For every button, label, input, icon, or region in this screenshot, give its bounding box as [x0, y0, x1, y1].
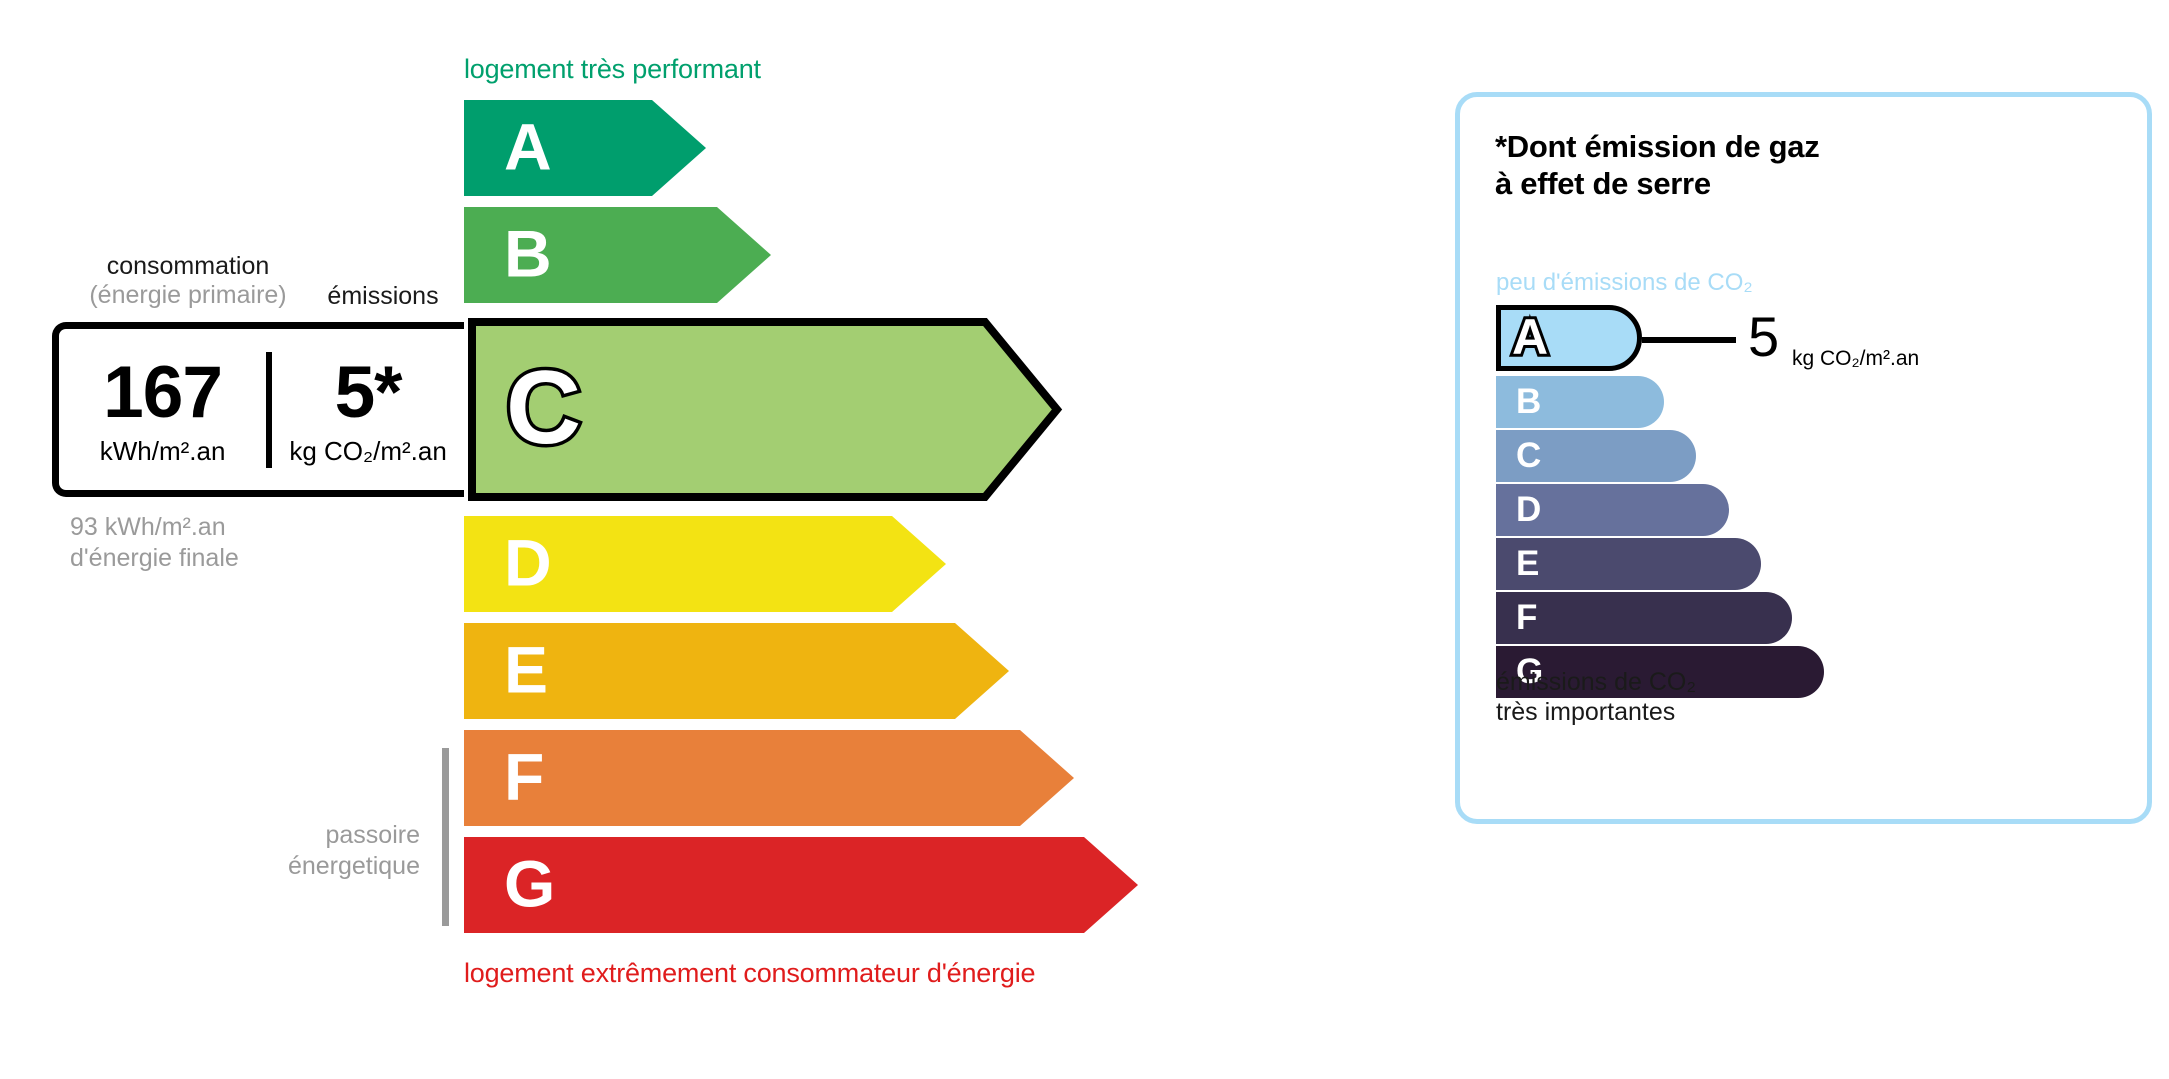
co2-title-line1: *Dont émission de gaz [1495, 129, 1819, 164]
co2-bar-letter-f: F [1516, 600, 1537, 635]
co2-subtitle: peu d'émissions de CO₂ [1496, 269, 1753, 297]
co2-value: 5 [1748, 309, 1779, 365]
passoire-label-line1: passoire [326, 821, 421, 849]
final-energy-line1: 93 kWh/m².an [70, 513, 226, 541]
energy-band-shape-g [464, 837, 1138, 933]
final-energy-footnote: 93 kWh/m².an d'énergie finale [70, 512, 239, 575]
final-energy-line2: d'énergie finale [70, 544, 239, 572]
emissions-unit: kg CO₂/m².an [272, 438, 464, 464]
emissions-header: émissions [308, 282, 458, 311]
co2-bar-letter-d: D [1516, 492, 1541, 527]
co2-panel: *Dont émission de gaz à effet de serre p… [1455, 92, 2152, 824]
energy-band-list: ABCDEFG [464, 100, 1138, 944]
energy-band-c: C [464, 314, 1138, 505]
co2-footer-line2: très importantes [1496, 698, 1675, 726]
co2-panel-title: *Dont émission de gaz à effet de serre [1495, 129, 1819, 202]
energy-band-g: G [464, 837, 1138, 933]
co2-bar-letter-c: C [1516, 438, 1541, 473]
co2-bar-letter-b: B [1516, 384, 1541, 419]
energy-band-b: B [464, 207, 1138, 303]
co2-value-unit: kg CO₂/m².an [1792, 347, 1919, 371]
co2-footer-line1: émissions de CO₂ [1496, 668, 1696, 696]
energy-band-shape-c [464, 314, 1065, 505]
passoire-label: passoire énergetique [190, 820, 420, 883]
consumption-cell: 167 kWh/m².an [59, 356, 266, 464]
energy-band-f: F [464, 730, 1138, 826]
co2-bar-f [1496, 592, 1792, 644]
energy-band-shape-f [464, 730, 1074, 826]
co2-leader-line [1642, 337, 1736, 343]
passoire-label-line2: énergetique [288, 852, 420, 880]
consumption-header-line1: consommation [68, 252, 308, 281]
co2-bar-letter-e: E [1516, 546, 1539, 581]
dpe-diagram: logement très performant ABCDEFG logemen… [0, 0, 2169, 1079]
scale-bottom-caption: logement extrêmement consommateur d'éner… [464, 958, 1035, 989]
energy-band-e: E [464, 623, 1138, 719]
consumption-header-line2: (énergie primaire) [68, 281, 308, 310]
energy-band-shape-a [464, 100, 706, 196]
co2-title-line2: à effet de serre [1495, 166, 1711, 201]
consumption-value: 167 [59, 356, 266, 429]
energy-band-shape-d [464, 516, 946, 612]
consumption-header: consommation (énergie primaire) [68, 252, 308, 310]
emissions-value: 5* [272, 356, 464, 429]
co2-footer: émissions de CO₂ très importantes [1496, 667, 1696, 727]
co2-bar-letter-a: A [1512, 312, 1548, 362]
scale-top-caption: logement très performant [464, 54, 761, 85]
energy-band-shape-b [464, 207, 771, 303]
energy-band-d: D [464, 516, 1138, 612]
passoire-marker-bar [442, 748, 449, 926]
consumption-unit: kWh/m².an [59, 438, 266, 464]
emissions-cell: 5* kg CO₂/m².an [272, 356, 464, 464]
value-box: 167 kWh/m².an 5* kg CO₂/m².an [52, 322, 464, 497]
energy-band-shape-e [464, 623, 1009, 719]
energy-band-a: A [464, 100, 1138, 196]
